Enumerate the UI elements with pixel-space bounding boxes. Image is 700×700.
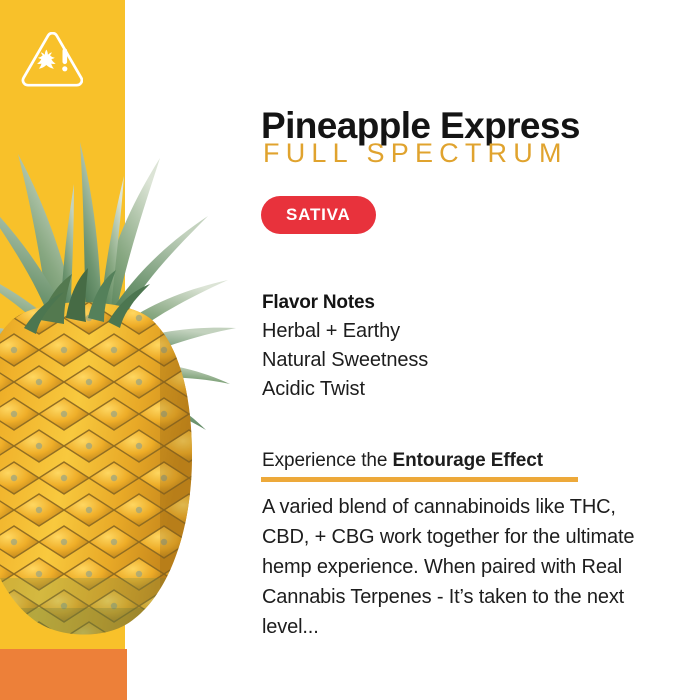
orange-background-panel (0, 649, 127, 700)
status-badge: SATIVA (261, 196, 376, 234)
section-divider (261, 477, 578, 482)
flavor-notes-heading: Flavor Notes (262, 292, 375, 314)
product-subtitle: FULL SPECTRUM (263, 138, 568, 169)
product-info-card: Pineapple Express FULL SPECTRUM SATIVA F… (0, 0, 700, 700)
cannabis-warning-triangle-icon (21, 32, 83, 88)
product-details-column: Pineapple Express FULL SPECTRUM SATIVA F… (261, 0, 661, 700)
entourage-emphasis-text: Entourage Effect (393, 450, 543, 471)
list-item: Herbal + Earthy (262, 317, 428, 346)
entourage-effect-body: A varied blend of cannabinoids like THC,… (262, 492, 647, 642)
yellow-background-panel (0, 0, 125, 660)
list-item: Acidic Twist (262, 375, 428, 404)
flavor-notes-list: Herbal + Earthy Natural Sweetness Acidic… (262, 317, 428, 404)
entourage-effect-heading: Experience the Entourage Effect (262, 450, 543, 472)
entourage-lead-text: Experience the (262, 450, 393, 471)
list-item: Natural Sweetness (262, 346, 428, 375)
